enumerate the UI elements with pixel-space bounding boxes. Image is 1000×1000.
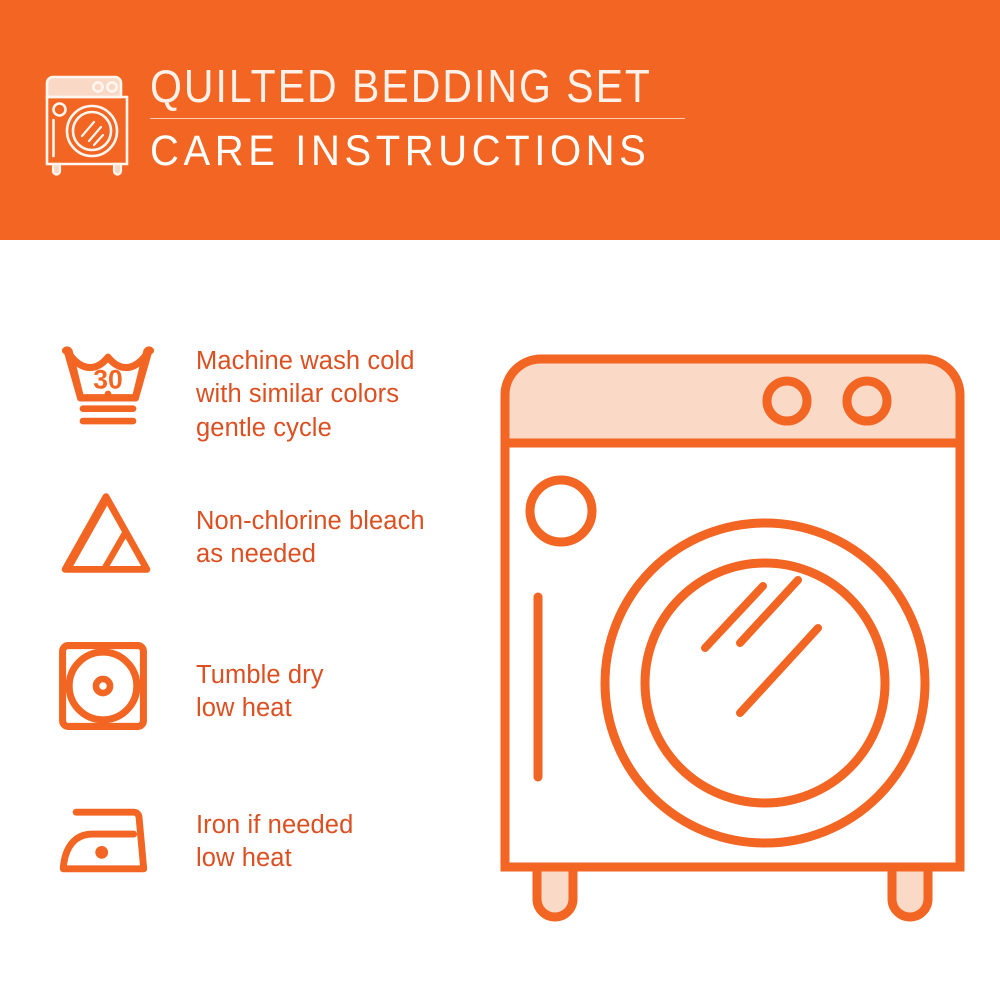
care-text-line: Iron if needed [196, 809, 353, 842]
tumble-dry-icon [48, 631, 184, 733]
care-item-wash: 30 Machine wash cold with similar colors… [48, 335, 468, 483]
care-item-tumble-dry: Tumble dry low heat [48, 631, 468, 779]
care-text-line: low heat [196, 842, 353, 875]
bleach-triangle-icon [48, 483, 184, 577]
care-text-iron: Iron if needed low heat [184, 779, 353, 876]
leg-left [537, 867, 573, 917]
header-banner: QUILTED BEDDING SET CARE INSTRUCTIONS [0, 0, 1000, 240]
iron-icon [48, 779, 184, 880]
care-instructions-page: QUILTED BEDDING SET CARE INSTRUCTIONS 30 [0, 0, 1000, 1000]
title-divider [150, 118, 685, 119]
machine-body [505, 443, 960, 867]
care-text-bleach: Non-chlorine bleach as needed [184, 483, 425, 572]
washing-machine-illustration [495, 335, 970, 930]
care-text-line: gentle cycle [196, 412, 415, 445]
header-title-group: QUILTED BEDDING SET CARE INSTRUCTIONS [150, 62, 685, 170]
care-text-line: Tumble dry [196, 659, 324, 692]
care-text-line: with similar colors [196, 378, 415, 411]
wash-temperature-label: 30 [93, 364, 122, 394]
header-content: QUILTED BEDDING SET CARE INSTRUCTIONS [44, 62, 685, 176]
leg-right [892, 867, 928, 917]
page-title: QUILTED BEDDING SET [150, 64, 685, 110]
page-subtitle: CARE INSTRUCTIONS [150, 130, 685, 172]
care-text-line: low heat [196, 692, 324, 725]
care-item-bleach: Non-chlorine bleach as needed [48, 483, 468, 631]
care-text-line: Non-chlorine bleach [196, 505, 425, 538]
wash-tub-icon: 30 [48, 335, 184, 434]
care-text-line: as needed [196, 538, 425, 571]
care-text-line: Machine wash cold [196, 345, 415, 378]
washing-machine-logo-icon [44, 68, 130, 176]
care-instruction-list: 30 Machine wash cold with similar colors… [48, 335, 468, 927]
control-panel [505, 359, 960, 443]
care-text-tumble-dry: Tumble dry low heat [184, 631, 324, 726]
care-item-iron: Iron if needed low heat [48, 779, 468, 927]
content-area: 30 Machine wash cold with similar colors… [0, 240, 1000, 1000]
care-text-wash: Machine wash cold with similar colors ge… [184, 335, 415, 445]
